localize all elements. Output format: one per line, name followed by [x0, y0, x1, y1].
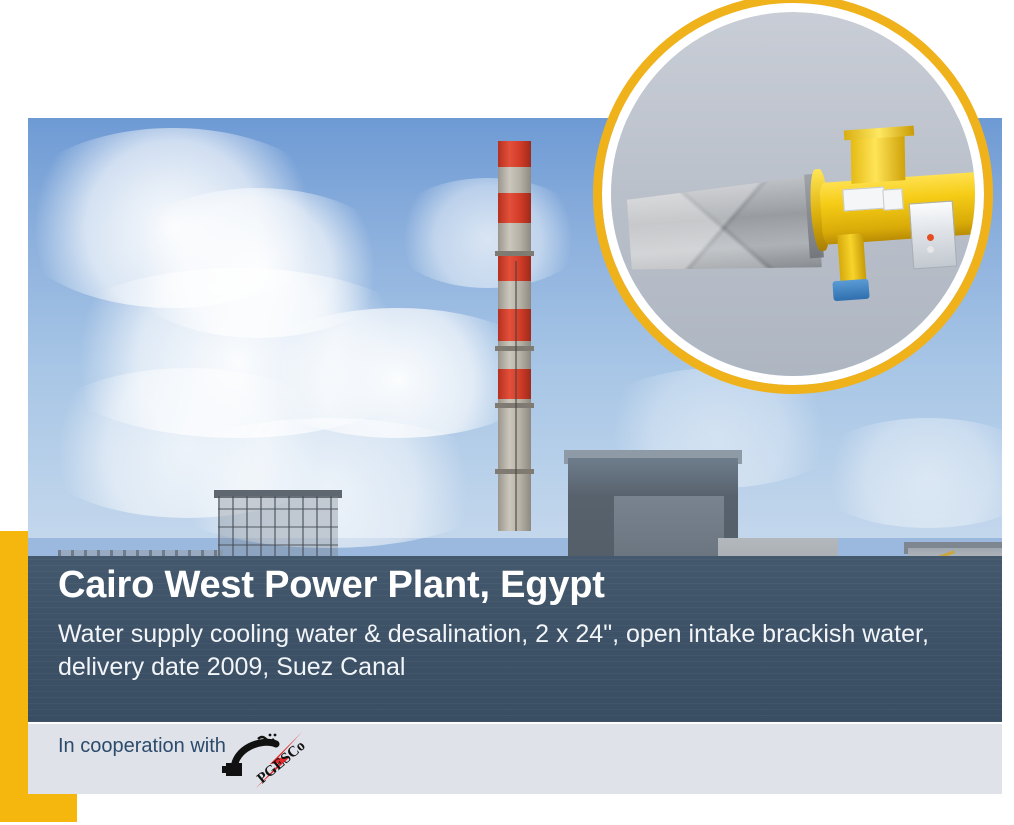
footer-bar: In cooperation with PGESCo PGESCO	[28, 724, 1002, 794]
caption-panel: Cairo West Power Plant, Egypt Water supp…	[28, 556, 1002, 722]
page-title: Cairo West Power Plant, Egypt	[58, 564, 605, 607]
inset-gold-ring	[593, 0, 993, 394]
page-subtitle: Water supply cooling water & desalinatio…	[58, 618, 978, 684]
product-inset	[593, 0, 993, 394]
chimney-stack	[498, 141, 531, 531]
project-reference-card: Cairo West Power Plant, Egypt Water supp…	[0, 0, 1014, 825]
pgesco-logo-alt: PGESCO	[328, 730, 329, 731]
pgesco-logo: PGESCo PGESCO	[218, 730, 328, 792]
chimney-band	[495, 251, 534, 256]
cloud	[388, 178, 588, 288]
cooperation-label: In cooperation with	[58, 733, 228, 759]
chimney-stripe	[498, 193, 531, 223]
chimney-stripe	[498, 141, 531, 167]
chimney-ladder	[515, 261, 517, 531]
accent-bracket-foot	[0, 794, 77, 822]
accent-bracket-vertical	[0, 531, 28, 822]
